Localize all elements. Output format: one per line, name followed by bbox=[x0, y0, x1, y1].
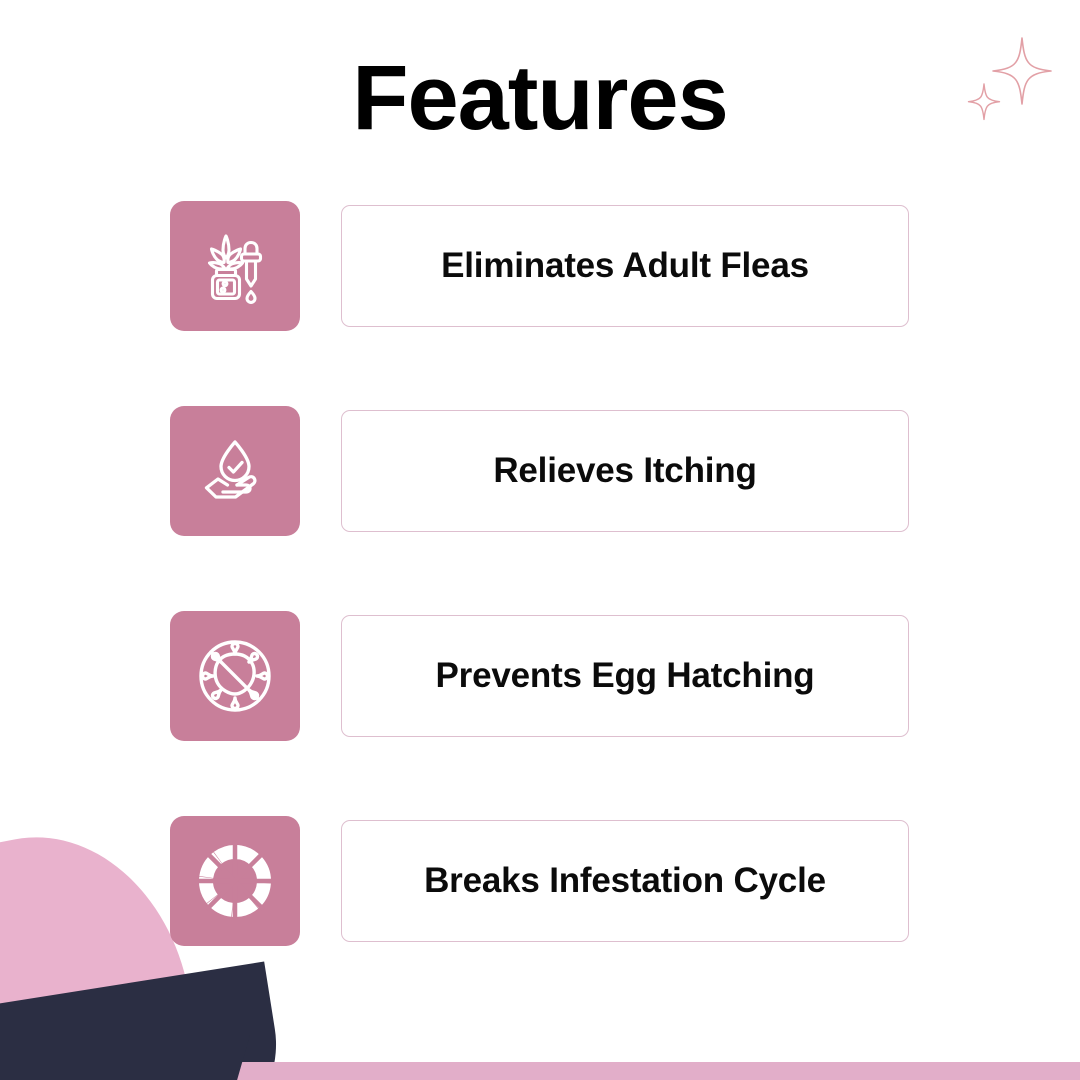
cycle-ring-icon bbox=[192, 838, 278, 924]
feature-icon-tile bbox=[170, 406, 300, 536]
feature-text-box: Eliminates Adult Fleas bbox=[341, 205, 909, 327]
dropper-bottle-icon bbox=[193, 224, 277, 308]
feature-icon-tile bbox=[170, 611, 300, 741]
poster-canvas: Features bbox=[0, 0, 1080, 1080]
feature-row: Relieves Itching bbox=[170, 406, 915, 536]
feature-label: Breaks Infestation Cycle bbox=[424, 861, 826, 901]
feature-text-box: Relieves Itching bbox=[341, 410, 909, 532]
no-germ-icon bbox=[191, 632, 279, 720]
feature-text-box: Breaks Infestation Cycle bbox=[341, 820, 909, 942]
feature-label: Eliminates Adult Fleas bbox=[441, 246, 809, 286]
petal-navy-overlap bbox=[0, 1035, 250, 1080]
feature-row: Breaks Infestation Cycle bbox=[170, 816, 915, 946]
page-title: Features bbox=[0, 52, 1080, 144]
feature-icon-tile bbox=[170, 816, 300, 946]
feature-row: Eliminates Adult Fleas bbox=[170, 201, 915, 331]
feature-text-box: Prevents Egg Hatching bbox=[341, 615, 909, 737]
feature-label: Relieves Itching bbox=[493, 451, 756, 491]
feature-list: Eliminates Adult Fleas bbox=[170, 201, 915, 946]
droplet-hand-check-icon bbox=[193, 429, 277, 513]
feature-icon-tile bbox=[170, 201, 300, 331]
feature-label: Prevents Egg Hatching bbox=[436, 656, 815, 696]
feature-row: Prevents Egg Hatching bbox=[170, 611, 915, 741]
